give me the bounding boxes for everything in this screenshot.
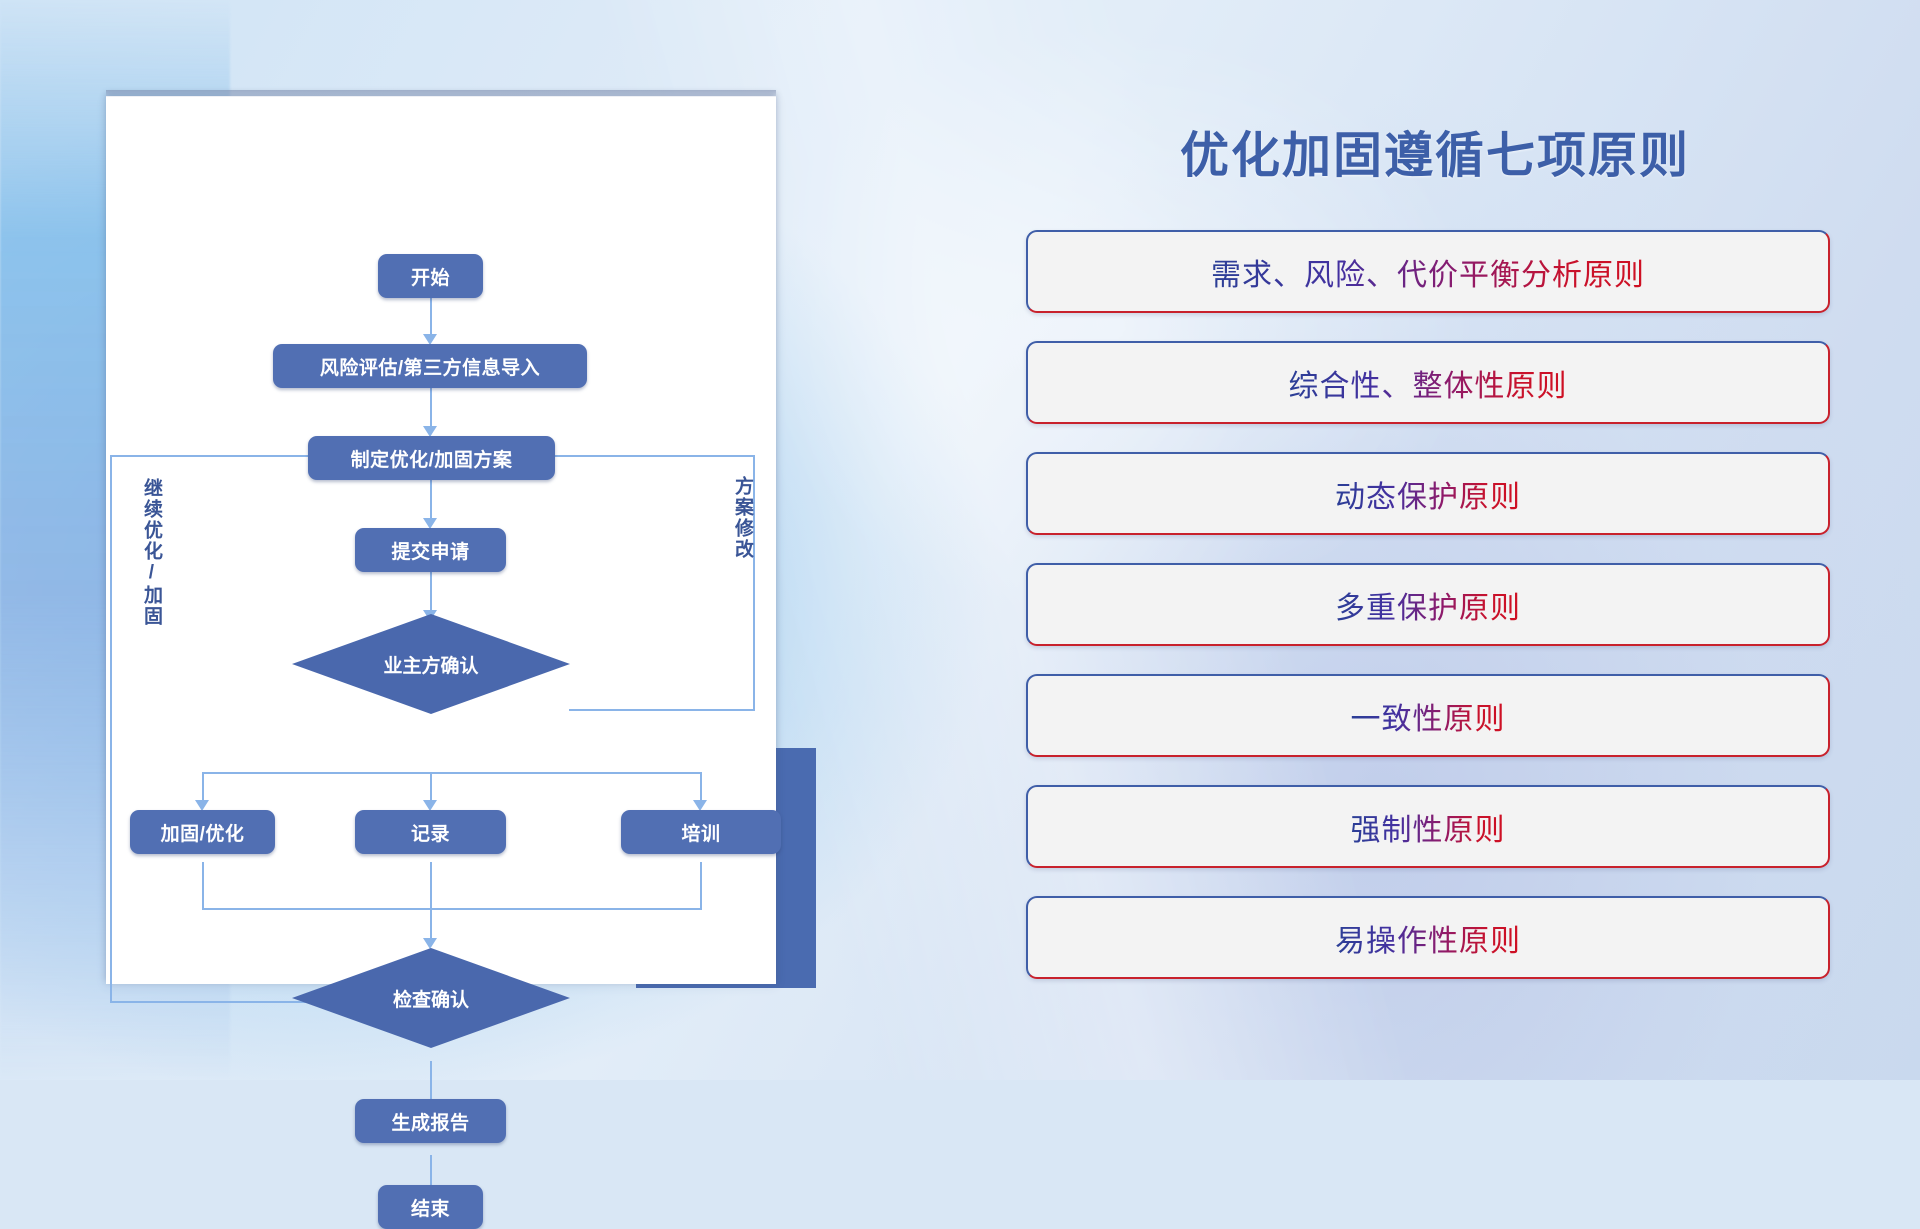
connector-owner-right-v xyxy=(753,456,755,711)
node-owner-confirm[interactable]: 业主方确认 xyxy=(292,614,570,714)
panel-title: 优化加固遵循七项原则 xyxy=(1020,116,1850,187)
principle-item-2[interactable]: 综合性、整体性原则 xyxy=(1026,341,1830,424)
principle-item-1[interactable]: 需求、风险、代价平衡分析原则 xyxy=(1026,230,1830,313)
node-end[interactable]: 结束 xyxy=(378,1185,483,1229)
principle-item-3[interactable]: 动态保护原则 xyxy=(1026,452,1830,535)
principle-item-5[interactable]: 一致性原则 xyxy=(1026,674,1830,757)
principle-label: 一致性原则 xyxy=(1351,694,1506,738)
principle-label: 易操作性原则 xyxy=(1335,916,1521,960)
node-reinforce-optimize[interactable]: 加固/优化 xyxy=(130,810,275,854)
edge-label-plan-revision: 方案修改 xyxy=(732,476,752,616)
connector-owner-right-h xyxy=(569,709,755,711)
node-start[interactable]: 开始 xyxy=(378,254,483,298)
connector-left-loop-v xyxy=(110,455,112,1003)
principle-item-6[interactable]: 强制性原则 xyxy=(1026,785,1830,868)
connector-risk-to-plan xyxy=(430,388,432,430)
principle-item-7[interactable]: 易操作性原则 xyxy=(1026,896,1830,979)
node-check-confirm-label: 检查确认 xyxy=(393,985,469,1012)
connector-submit-to-owner xyxy=(430,572,432,614)
connector-merge-bus xyxy=(202,908,702,910)
node-make-plan[interactable]: 制定优化/加固方案 xyxy=(308,436,555,480)
connector-training-down xyxy=(700,862,702,910)
principle-label: 强制性原则 xyxy=(1351,805,1506,849)
node-check-confirm[interactable]: 检查确认 xyxy=(292,948,570,1048)
principle-label: 综合性、整体性原则 xyxy=(1289,361,1568,405)
node-record[interactable]: 记录 xyxy=(355,810,506,854)
node-generate-report[interactable]: 生成报告 xyxy=(355,1099,506,1143)
principles-panel: 优化加固遵循七项原则 需求、风险、代价平衡分析原则 综合性、整体性原则 动态保护… xyxy=(1020,96,1850,1026)
connector-record-to-check xyxy=(430,862,432,942)
connector-reinforce-down xyxy=(202,862,204,910)
node-submit-application[interactable]: 提交申请 xyxy=(355,528,506,572)
principle-item-4[interactable]: 多重保护原则 xyxy=(1026,563,1830,646)
node-training[interactable]: 培训 xyxy=(621,810,781,854)
flowchart-card: 继续优化/加固 方案修改 开始 风险评估/第三方信息导入 制定优化/加固方案 提… xyxy=(106,96,776,984)
connector-owner-branch-bus xyxy=(202,772,702,774)
connector-plan-to-submit xyxy=(430,480,432,522)
connector-check-left-h xyxy=(110,1001,308,1003)
principle-label: 多重保护原则 xyxy=(1335,583,1521,627)
principle-label: 动态保护原则 xyxy=(1335,472,1521,516)
edge-label-continue-optimize: 继续优化/加固 xyxy=(141,478,161,668)
node-risk-assessment[interactable]: 风险评估/第三方信息导入 xyxy=(273,344,587,388)
node-owner-confirm-label: 业主方确认 xyxy=(383,651,478,678)
connector-start-to-risk xyxy=(430,296,432,338)
principle-label: 需求、风险、代价平衡分析原则 xyxy=(1211,250,1645,294)
